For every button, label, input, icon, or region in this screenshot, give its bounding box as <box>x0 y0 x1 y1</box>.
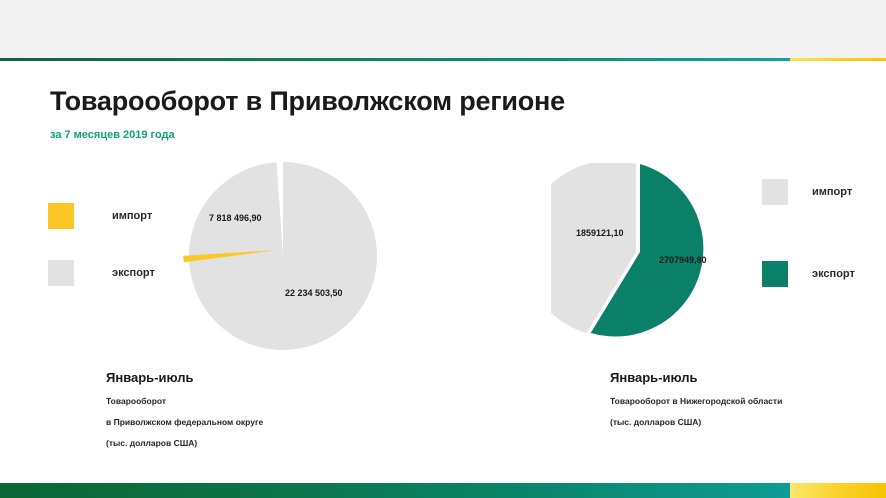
caption-right-line2: (тыс. долларов США) <box>610 417 782 427</box>
bottom-accent-rule <box>0 483 886 498</box>
top-band <box>0 0 886 58</box>
legend-label-export: экспорт <box>812 268 855 280</box>
pie-right-import-value: 1859121,10 <box>576 228 624 238</box>
legend-label-import: импорт <box>812 186 852 198</box>
pie-chart-left-svg <box>171 144 383 356</box>
bottom-accent-yellow-segment <box>790 483 886 498</box>
top-accent-green-segment <box>0 58 790 61</box>
caption-left-line2: в Приволжском федеральном округе <box>106 417 263 427</box>
legend-left: импорт экспорт <box>48 196 155 310</box>
legend-label-export: экспорт <box>112 267 155 279</box>
pie-chart-right-svg <box>551 163 729 341</box>
legend-swatch-import-icon <box>762 179 788 205</box>
page-title: Товарооборот в Приволжском регионе <box>50 86 565 117</box>
caption-right-title: Январь-июль <box>610 370 782 385</box>
caption-left-title: Январь-июль <box>106 370 263 385</box>
pie-right-export-value: 2707949,80 <box>659 255 707 265</box>
legend-label-import: импорт <box>112 210 152 222</box>
legend-swatch-export-icon <box>48 260 74 286</box>
pie-left-export-value: 22 234 503,50 <box>285 288 343 298</box>
caption-right-line1: Товарооборот в Нижегородской области <box>610 396 782 406</box>
caption-left-line3: (тыс. долларов США) <box>106 438 263 448</box>
page-subtitle: за 7 месяцев 2019 года <box>50 129 175 141</box>
legend-swatch-export-icon <box>762 261 788 287</box>
legend-item-import: импорт <box>48 196 155 236</box>
legend-item-export: экспорт <box>762 254 855 294</box>
legend-item-export: экспорт <box>48 253 155 293</box>
pie-left-import-value: 7 818 496,90 <box>209 213 262 223</box>
legend-right: импорт экспорт <box>762 172 855 336</box>
legend-item-import: импорт <box>762 172 855 212</box>
caption-right: Январь-июль Товарооборот в Нижегородской… <box>610 370 782 438</box>
top-accent-rule <box>0 58 886 61</box>
legend-swatch-import-icon <box>48 203 74 229</box>
top-accent-yellow-segment <box>790 58 886 61</box>
pie-chart-left <box>171 144 383 356</box>
pie-chart-right <box>551 163 729 341</box>
bottom-accent-green-segment <box>0 483 790 498</box>
caption-left-line1: Товарооборот <box>106 396 263 406</box>
caption-left: Январь-июль Товарооборот в Приволжском ф… <box>106 370 263 459</box>
